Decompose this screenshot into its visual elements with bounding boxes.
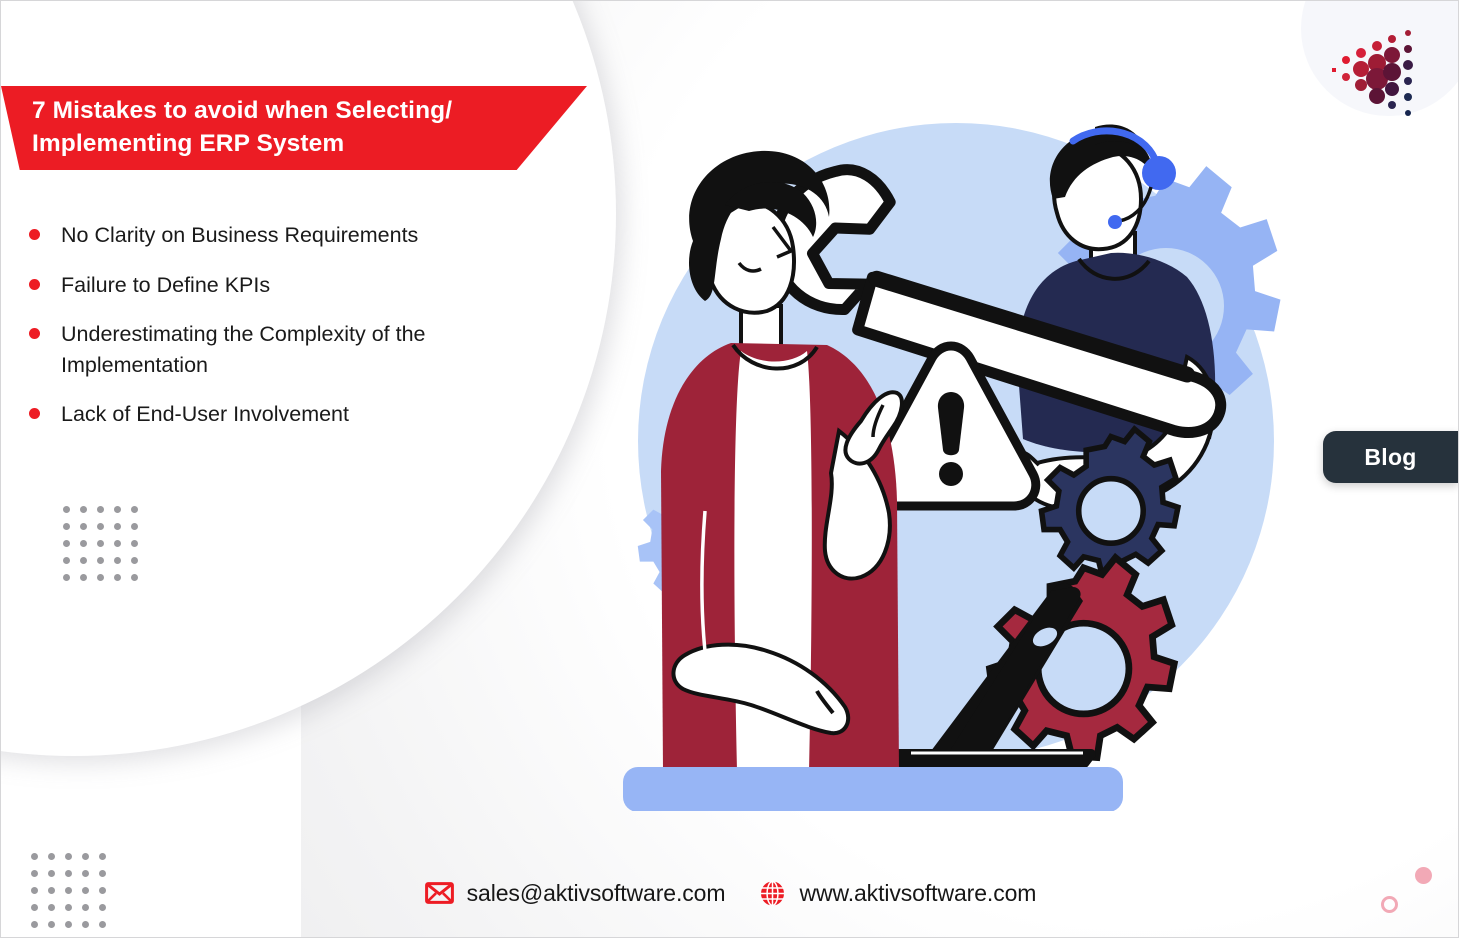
footer-contact-bar: sales@aktivsoftware.com www.aktivsoftwar… [1, 871, 1459, 915]
mail-icon [425, 882, 454, 904]
list-item-label: No Clarity on Business Requirements [61, 220, 418, 251]
bullet-dot-icon [29, 408, 40, 419]
email-text: sales@aktivsoftware.com [467, 880, 726, 907]
list-item-label: Failure to Define KPIs [61, 270, 270, 301]
globe-icon [759, 880, 786, 907]
list-item-label: Lack of End-User Involvement [61, 399, 349, 430]
bullet-dot-icon [29, 229, 40, 240]
bullet-dot-icon [29, 279, 40, 290]
mistakes-list: No Clarity on Business Requirements Fail… [29, 220, 549, 449]
erp-illustration [621, 121, 1321, 811]
poster-canvas: 7 Mistakes to avoid when Selecting/ Impl… [0, 0, 1459, 938]
list-item: Failure to Define KPIs [29, 270, 549, 301]
list-item: No Clarity on Business Requirements [29, 220, 549, 251]
list-item: Underestimating the Complexity of the Im… [29, 319, 549, 380]
list-item-label: Underestimating the Complexity of the Im… [61, 319, 501, 380]
website-text: www.aktivsoftware.com [799, 880, 1036, 907]
blog-tab-label: Blog [1364, 444, 1416, 471]
page-title: 7 Mistakes to avoid when Selecting/ Impl… [32, 95, 452, 160]
decorative-dot-grid-middle [63, 506, 138, 581]
bullet-dot-icon [29, 328, 40, 339]
list-item: Lack of End-User Involvement [29, 399, 549, 430]
title-banner-text-wrap: 7 Mistakes to avoid when Selecting/ Impl… [1, 86, 587, 170]
aktiv-software-logo-icon [1330, 19, 1448, 124]
blog-tab-button[interactable]: Blog [1323, 431, 1458, 483]
website-contact[interactable]: www.aktivsoftware.com [759, 880, 1036, 907]
email-contact[interactable]: sales@aktivsoftware.com [425, 880, 726, 907]
